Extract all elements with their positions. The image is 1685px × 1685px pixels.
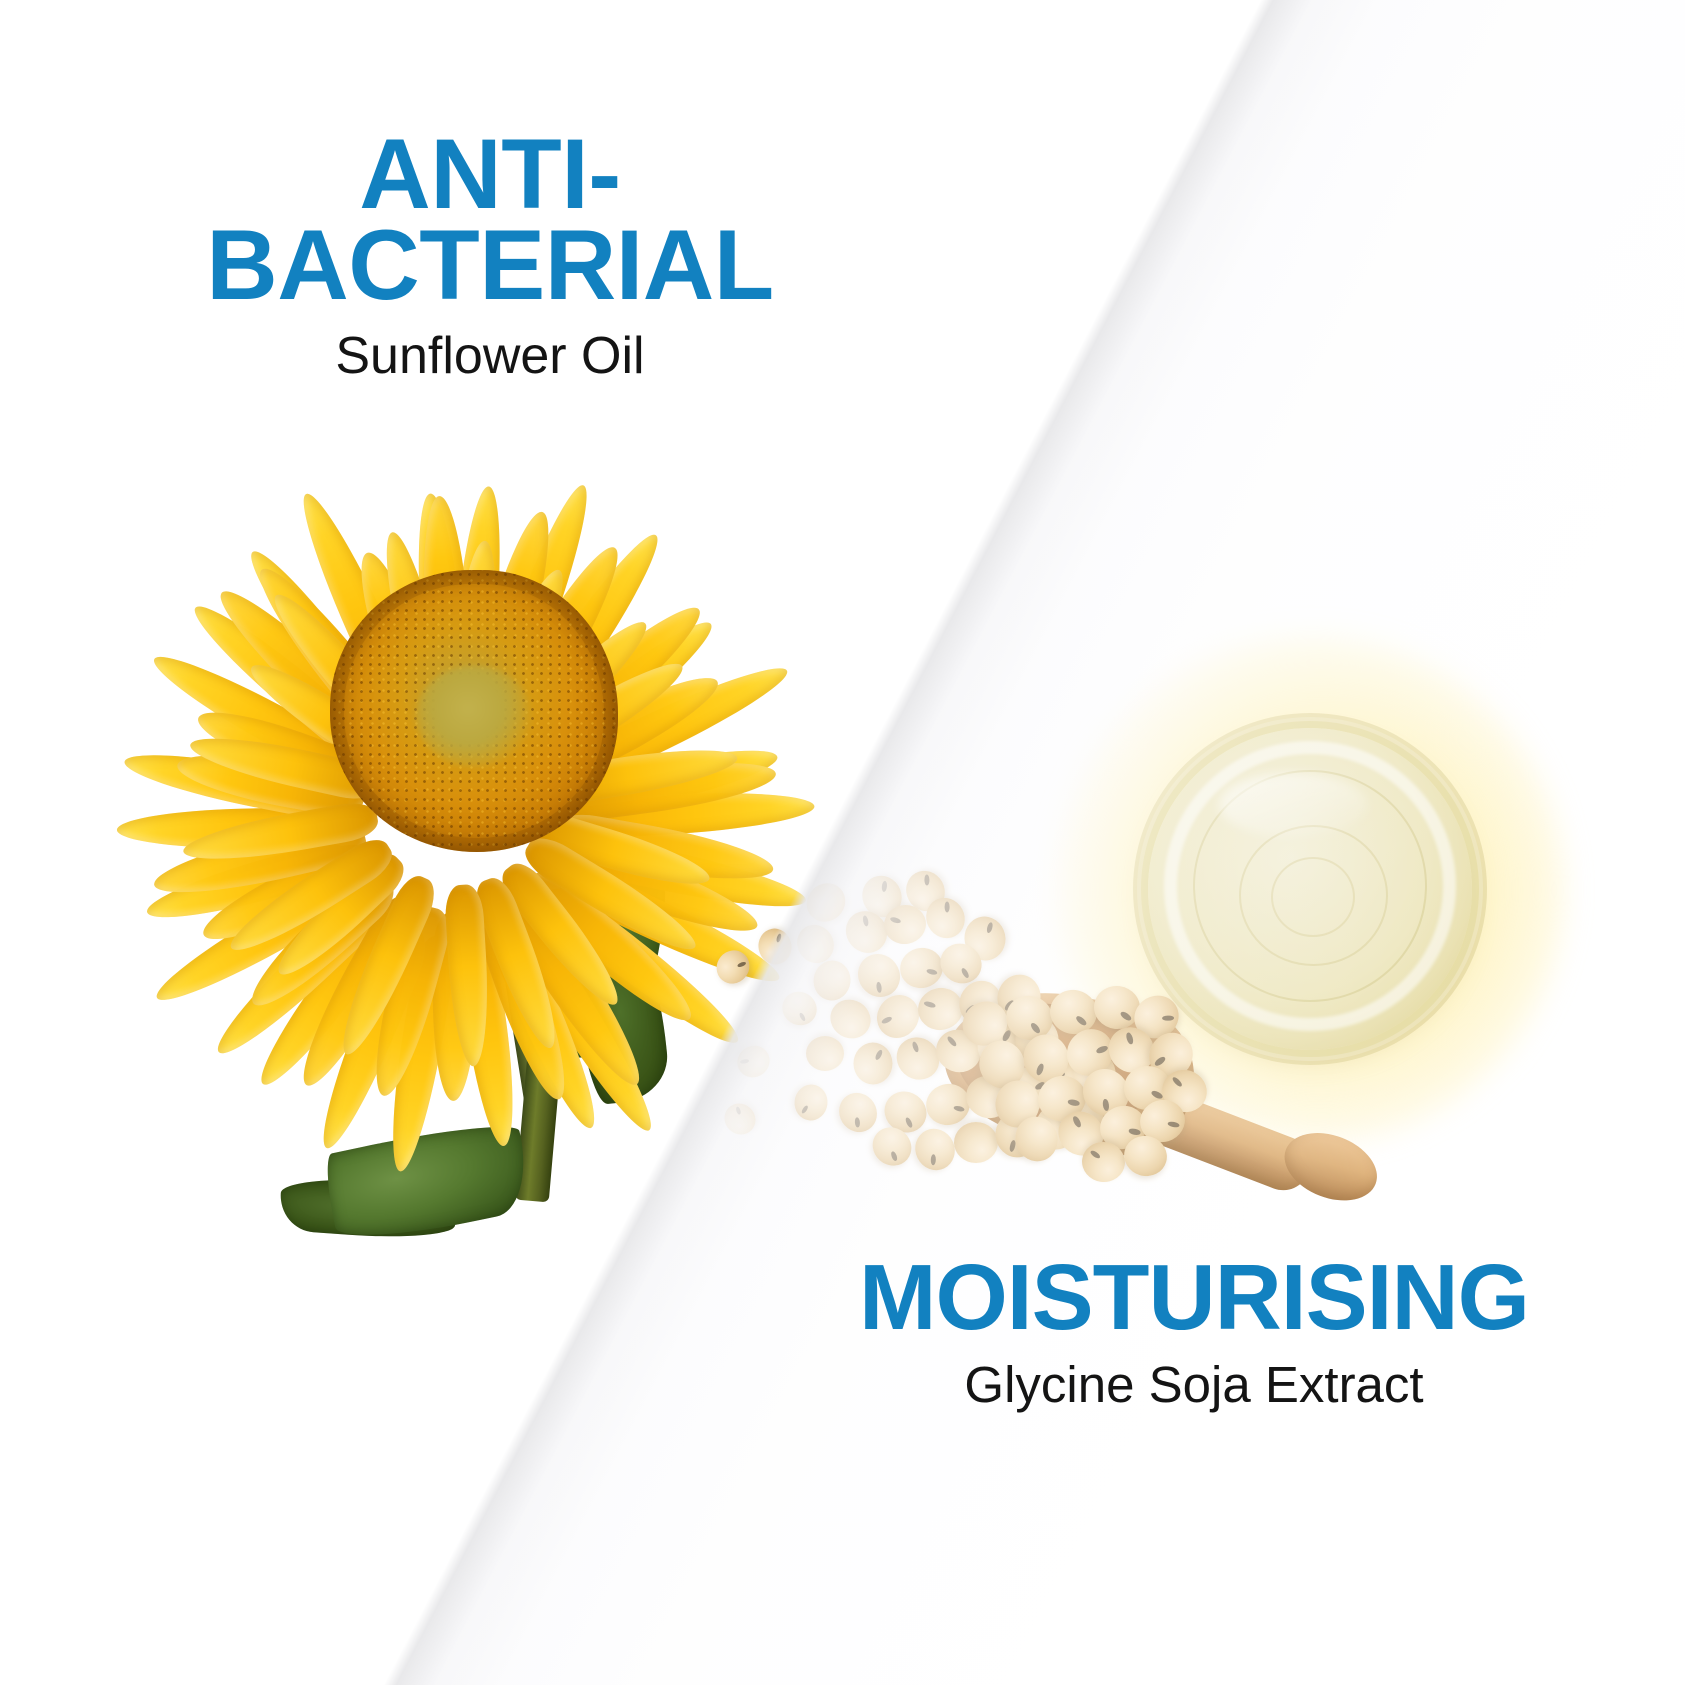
soybean-loose: [888, 1029, 948, 1089]
antibacterial-headline: ANTI-BACTERIAL: [0, 128, 980, 310]
soybean-loose: [856, 870, 908, 924]
oil-bowl: [1148, 728, 1472, 1050]
top-left-text-block: ANTI-BACTERIAL Sunflower Oil: [0, 128, 980, 386]
soybean-loose: [837, 903, 895, 962]
promo-canvas: ANTI-BACTERIAL Sunflower Oil MOISTURISIN…: [0, 0, 1685, 1685]
soybean-loose: [849, 946, 908, 1006]
soybean-loose: [919, 891, 972, 945]
sunflower-seed-disk: [330, 570, 618, 852]
scoop-handle-tip: [1275, 1121, 1387, 1213]
soybean-loose: [865, 1119, 919, 1173]
soybean-loose: [793, 1083, 830, 1122]
sunflower-image: [148, 392, 768, 1032]
soybean-loose: [896, 943, 948, 993]
soybean-loose: [776, 985, 823, 1032]
soybean-loose: [876, 1083, 934, 1141]
antibacterial-subtitle: Sunflower Oil: [0, 326, 980, 386]
soybean-loose: [960, 913, 1009, 965]
soybean-loose: [790, 918, 841, 970]
antibacterial-headline-line2: BACTERIAL: [206, 209, 773, 320]
moisturising-subtitle: Glycine Soja Extract: [703, 1355, 1685, 1414]
soybean-loose: [731, 1039, 776, 1084]
soybean-loose: [832, 1086, 885, 1140]
moisturising-headline: MOISTURISING: [703, 1255, 1685, 1341]
soybean-loose: [799, 875, 853, 929]
seed-disk-rim: [330, 570, 618, 852]
soybean-loose: [868, 987, 927, 1047]
oil-bowl-glass-rim: [1164, 741, 1456, 1031]
soybean-loose: [823, 992, 878, 1046]
soybean-loose: [811, 958, 853, 1002]
bottom-right-text-block: MOISTURISING Glycine Soja Extract: [703, 1255, 1685, 1414]
soybean-loose: [881, 901, 930, 947]
soybean-loose: [806, 1036, 844, 1071]
scoop-bowl-inner: [945, 987, 1163, 1145]
soybean-loose: [899, 864, 952, 918]
soybean-loose: [853, 1042, 893, 1085]
soybean-loose: [718, 1097, 762, 1141]
